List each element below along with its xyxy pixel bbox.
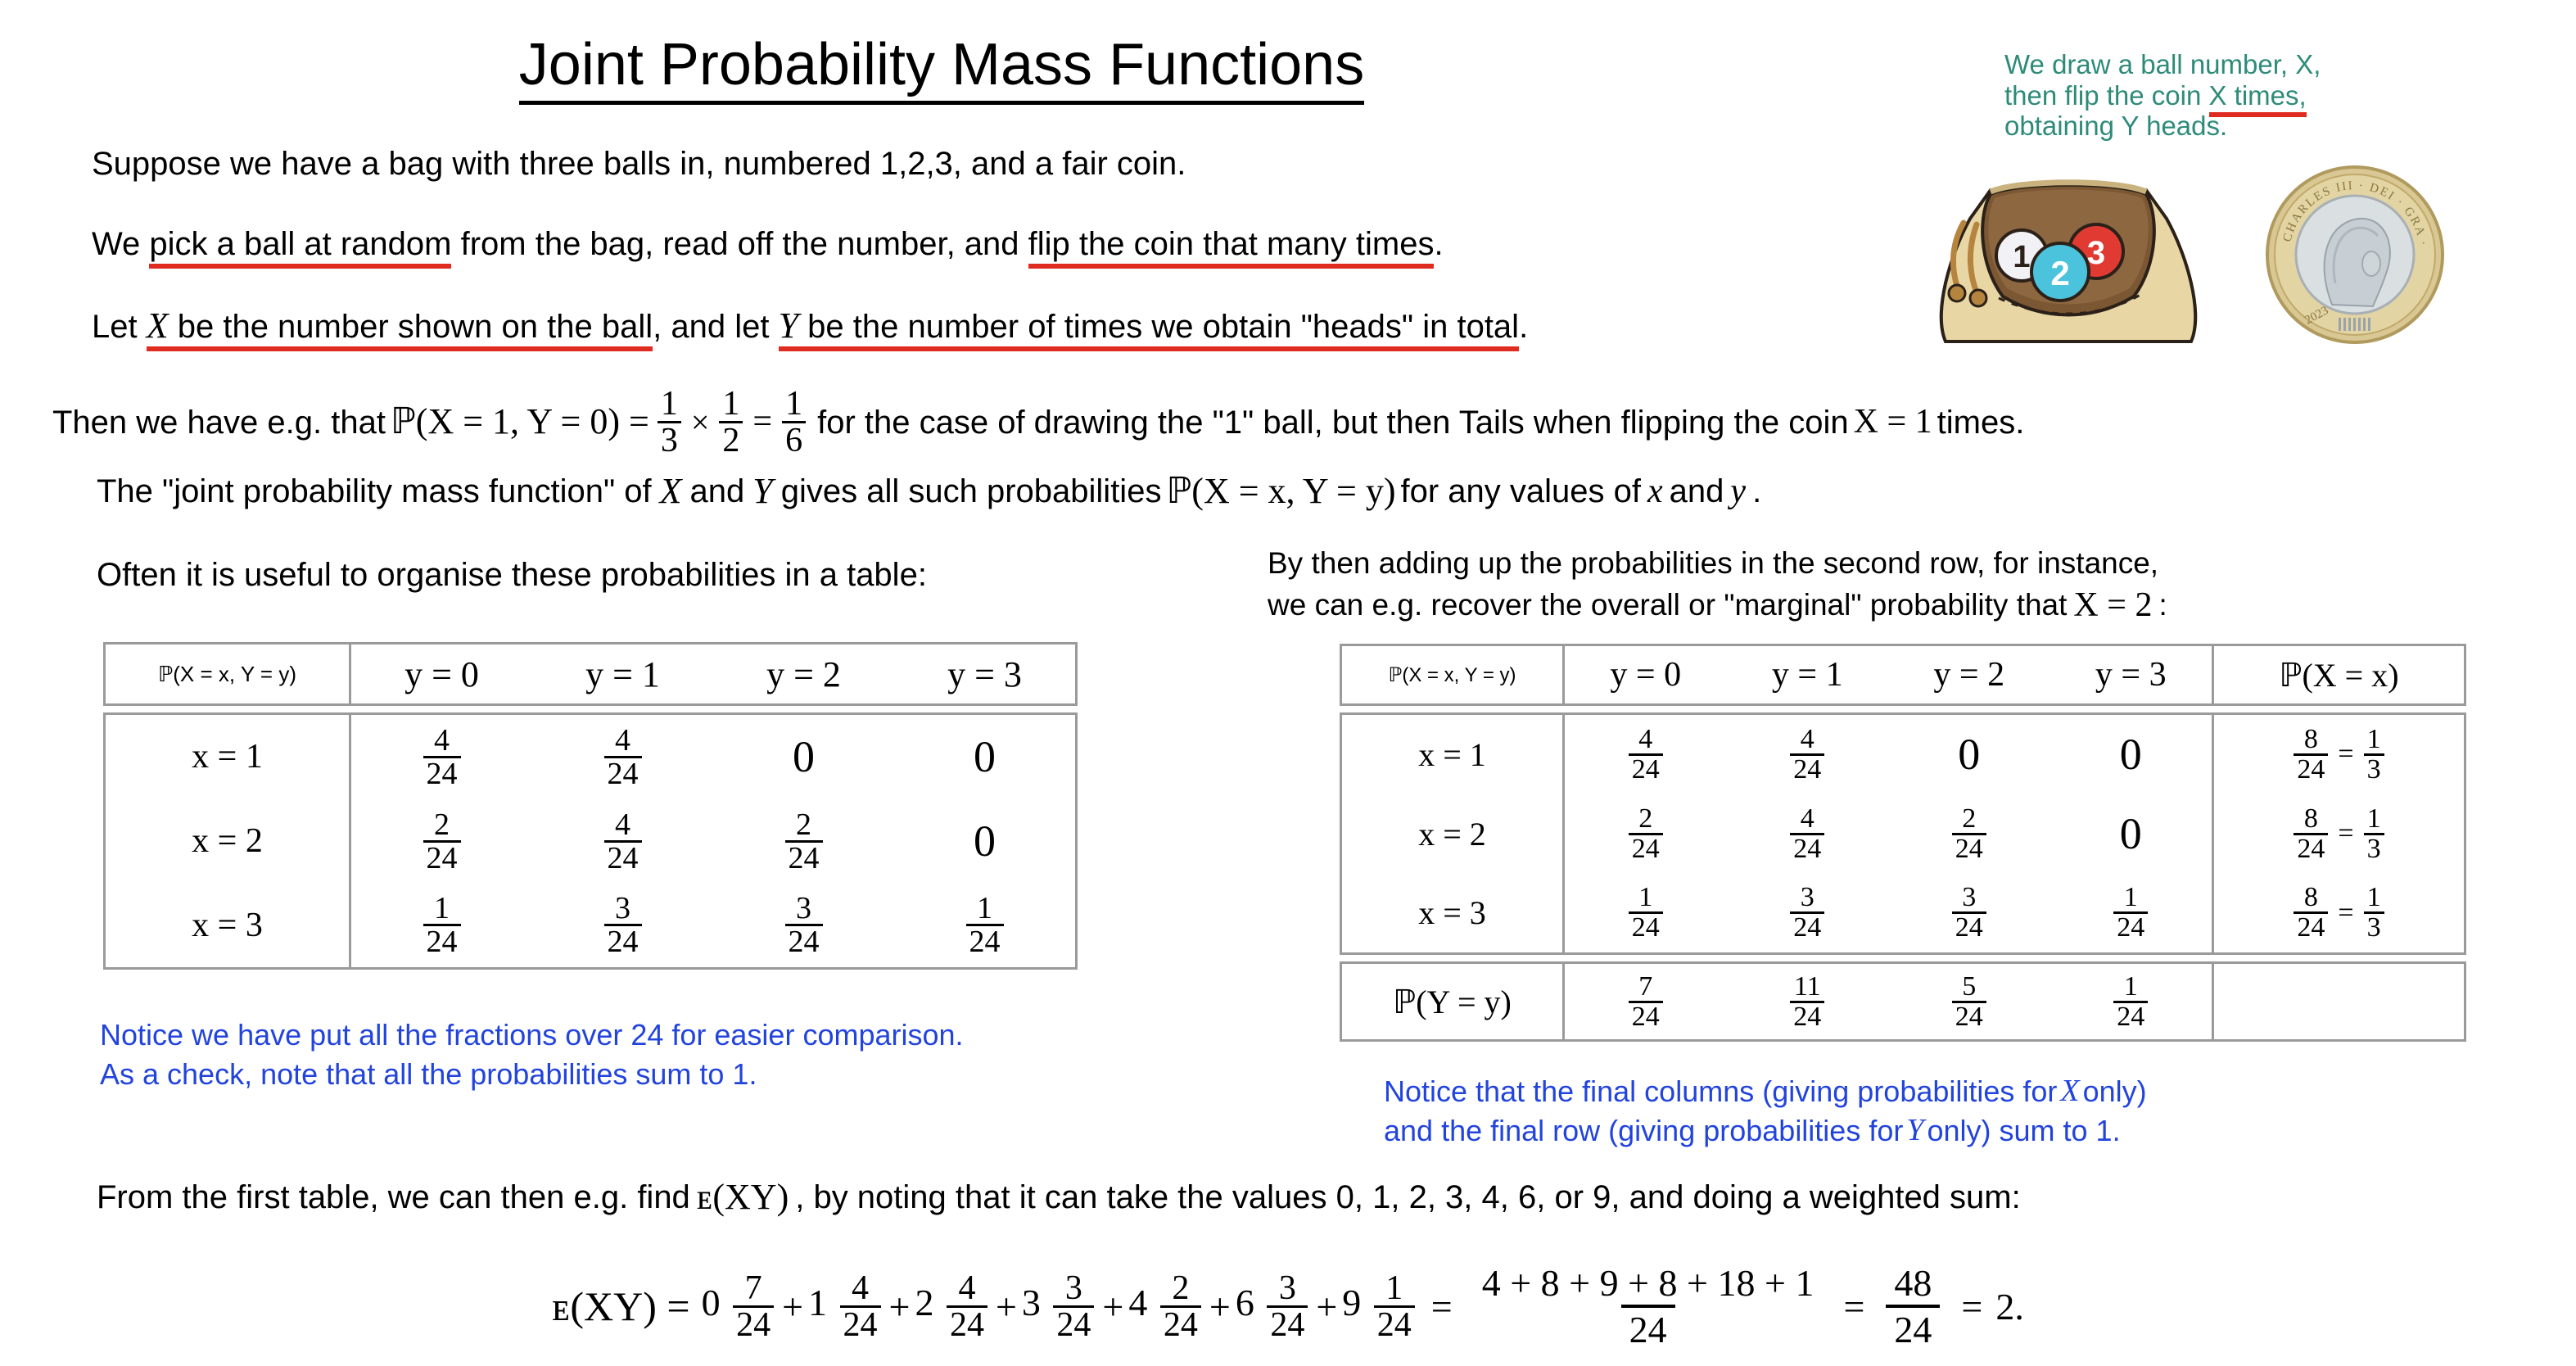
fraction-denominator: 24 — [1160, 1305, 1201, 1342]
plus-symbol: + — [1102, 1285, 1123, 1328]
marginal-x-value-x1: 824 = 13 — [2214, 715, 2464, 794]
row-header-x2: x = 2 — [106, 799, 349, 884]
fraction-numerator: 3 — [1276, 1271, 1299, 1305]
row-header-x2: x = 2 — [1342, 794, 1562, 874]
bottom-intro-b: , by noting that it can take the values … — [795, 1179, 2021, 1215]
table-body: x = 1 x = 2 x = 3 424 424 0 0 — [103, 712, 1078, 970]
equals-symbol: = — [2338, 898, 2353, 929]
fraction-numerator: 1 — [2364, 884, 2384, 911]
marginal-x-value-x2: 824 = 13 — [2214, 794, 2464, 874]
right-table-note-line-2: and the final row (giving probabilities … — [1384, 1114, 2121, 1148]
fraction-denominator: 3 — [2364, 911, 2384, 942]
row-header-x3: x = 3 — [106, 883, 349, 967]
term-0: 0 724 — [702, 1271, 778, 1342]
fraction-numerator: 7 — [1635, 973, 1656, 1001]
row-header-x1: x = 1 — [1342, 715, 1562, 794]
fraction-one-third: 1 3 — [658, 387, 681, 458]
fraction-numerator: 1 — [431, 893, 453, 924]
plus-symbol: + — [1316, 1285, 1337, 1328]
column-headers: y = 0 y = 1 y = 2 y = 3 — [351, 645, 1075, 703]
marginal-y-value-y1: 1124 — [1727, 973, 1889, 1031]
variable-x: X — [2060, 1074, 2079, 1109]
bag-of-balls-illustration: 1 3 2 — [1913, 157, 2224, 346]
marginal-y-row: ℙ(Y = y) 724 1124 524 124 — [1340, 961, 2466, 1042]
fraction-denominator: 24 — [2294, 911, 2328, 942]
fraction-numerator: 1 — [2364, 805, 2384, 833]
fraction-denominator: 3 — [2364, 753, 2384, 784]
equation-lhs: ᴇ(XY) = — [552, 1282, 689, 1330]
fraction-denominator: 24 — [604, 840, 642, 874]
fraction-numerator: 8 — [2301, 726, 2321, 753]
variable-y: Y — [752, 472, 772, 511]
body-line-5-a: The "joint probability mass function" of — [97, 473, 652, 509]
cell-x2-y2: 224 — [713, 809, 894, 874]
fraction-numerator: 3 — [612, 893, 634, 924]
fraction-denominator: 24 — [785, 924, 823, 957]
right-table-note-line-1: Notice that the final columns (giving pr… — [1384, 1074, 2147, 1109]
body-line-2-e: . — [1434, 226, 1443, 262]
fraction-denominator: 24 — [2294, 753, 2328, 784]
fraction-denominator: 24 — [947, 1305, 987, 1342]
fraction-denominator: 6 — [782, 421, 806, 458]
row-header-x1: x = 1 — [106, 715, 349, 799]
joint-prob-expression: ℙ(X = 1, Y = 0) = — [391, 402, 649, 441]
fraction-numerator: 1 — [2121, 973, 2141, 1001]
x-equals-two: X = 2 — [2073, 586, 2152, 624]
fraction-numerator: 4 — [848, 1271, 872, 1305]
fraction-denominator: 24 — [604, 756, 642, 789]
table-row: 124 324 324 124 — [351, 883, 1075, 967]
fraction-numerator: 2 — [431, 809, 453, 840]
total-fraction: 48 24 — [1886, 1261, 1940, 1351]
fraction-denominator: 24 — [1790, 911, 1824, 942]
fraction-denominator: 24 — [423, 840, 461, 874]
column-header-y1: y = 1 — [1727, 655, 1889, 694]
marginal-x-column: 824 = 13 824 = 13 824 = 13 — [2212, 715, 2464, 952]
body-line-2: We pick a ball at random from the bag, r… — [92, 226, 1444, 262]
cell-x3-y0: 124 — [1565, 884, 1727, 942]
fraction-numerator: 4 — [612, 725, 634, 756]
fraction-denominator: 24 — [840, 1305, 881, 1342]
fraction-denominator: 24 — [966, 924, 1004, 957]
joint-pmf-expression: ℙ(X = x, Y = y) — [1166, 472, 1395, 511]
body-line-2-c: from the bag, read off the number, and — [451, 226, 1028, 262]
bottom-intro-a: From the first table, we can then e.g. f… — [97, 1179, 690, 1215]
cell-x1-y3: 0 — [894, 731, 1075, 782]
svg-text:1: 1 — [2013, 240, 2030, 274]
cell-x1-y2: 0 — [1888, 729, 2050, 780]
fraction-denominator: 24 — [1790, 833, 1824, 863]
marginal-y-values: 724 1124 524 124 — [1565, 964, 2212, 1039]
table-corner-label: ℙ(X = x, Y = y) — [1342, 646, 1565, 703]
joint-pmf-table-left: ℙ(X = x, Y = y) y = 0 y = 1 y = 2 y = 3 … — [103, 642, 1078, 970]
term-5: 6 324 — [1236, 1271, 1312, 1342]
fraction-numerator: 3 — [1797, 884, 1818, 911]
fraction-numerator: 3 — [1062, 1271, 1086, 1305]
fraction-denominator: 3 — [2364, 833, 2384, 863]
fraction-numerator: 1 — [782, 387, 806, 421]
fraction-numerator: 4 — [431, 725, 453, 756]
times-symbol: × — [691, 405, 710, 441]
body-line-3-b: be the number shown on the ball — [169, 309, 653, 345]
sum-fraction: 4 + 8 + 9 + 8 + 18 + 1 24 — [1474, 1261, 1823, 1351]
cell-x1-y2: 0 — [713, 731, 894, 782]
equals-symbol-2: = — [1843, 1285, 1864, 1328]
fraction-numerator: 5 — [1959, 973, 1979, 1001]
term-4: 4 224 — [1128, 1271, 1204, 1342]
cell-value-zero: 0 — [974, 731, 996, 782]
fraction-numerator: 1 — [1635, 884, 1656, 911]
fraction-denominator: 24 — [2294, 833, 2328, 863]
left-table-note-line-1: Notice we have put all the fractions ove… — [100, 1019, 964, 1052]
variable-y: Y — [779, 305, 798, 346]
term-coefficient: 6 — [1236, 1282, 1254, 1323]
right-note-1c: only) — [2083, 1075, 2147, 1108]
fraction-denominator: 24 — [1053, 1305, 1094, 1342]
fraction-denominator: 24 — [423, 756, 461, 789]
fraction-one-half: 1 2 — [719, 387, 743, 458]
term-3: 3 324 — [1022, 1271, 1098, 1342]
body-line-5-c: gives all such probabilities — [781, 473, 1162, 509]
term-coefficient: 4 — [1128, 1282, 1147, 1323]
column-header-y1: y = 1 — [532, 654, 713, 695]
fraction-denominator: 24 — [1790, 1001, 1824, 1031]
fraction-denominator: 24 — [1629, 1001, 1663, 1031]
fraction-numerator: 11 — [1791, 973, 1824, 1001]
plus-symbol: + — [782, 1285, 803, 1328]
page-title-text: Joint Probability Mass Functions — [519, 32, 1364, 105]
fraction-denominator: 24 — [423, 924, 461, 957]
equals-symbol-3: = — [1961, 1285, 1982, 1328]
term-coefficient: 1 — [808, 1282, 827, 1323]
fraction-denominator: 24 — [1952, 911, 1986, 942]
fraction-denominator: 24 — [1629, 911, 1663, 942]
body-line-3-a: Let — [92, 309, 147, 345]
marginal-y-value-y3: 124 — [2050, 973, 2212, 1031]
body-line-4-a: Then we have e.g. that — [52, 405, 386, 441]
fraction-numerator: 2 — [1635, 805, 1656, 833]
plus-symbol: + — [1209, 1285, 1231, 1328]
variable-x: X — [660, 472, 682, 511]
cell-x1-y0: 424 — [351, 725, 532, 789]
fraction-denominator: 24 — [2113, 911, 2148, 942]
fraction-denominator: 24 — [1952, 1001, 1986, 1031]
term-coefficient: 0 — [702, 1282, 721, 1323]
table-cells: 424 424 0 0 224 424 224 0 124 324 324 12… — [1565, 715, 2212, 952]
body-line-2-highlight-2: flip the coin that many times — [1028, 226, 1435, 269]
cell-value-zero: 0 — [1958, 729, 1980, 780]
top-right-annotation: We draw a ball number, X, then flip the … — [2004, 49, 2576, 142]
cell-x3-y3: 124 — [894, 893, 1075, 957]
fraction-numerator: 4 — [1797, 805, 1818, 833]
bottom-intro-line: From the first table, we can then e.g. f… — [97, 1178, 2021, 1217]
fraction-denominator: 24 — [733, 1305, 774, 1342]
cell-x3-y1: 324 — [1727, 884, 1889, 942]
joint-pmf-table-right: ℙ(X = x, Y = y) y = 0 y = 1 y = 2 y = 3 … — [1340, 644, 2466, 1042]
fraction-numerator: 4 — [955, 1271, 978, 1305]
body-line-3-c: , and let — [653, 309, 778, 345]
fraction-one-sixth: 1 6 — [782, 387, 806, 458]
fraction-numerator: 3 — [793, 893, 815, 924]
marginal-y-value-y0: 724 — [1565, 973, 1727, 1031]
annotation-line-2: then flip the coin X times, — [2004, 80, 2576, 111]
left-table-note-line-2: As a check, note that all the probabilit… — [100, 1058, 757, 1091]
right-note-2c: only) sum to 1. — [1927, 1115, 2120, 1147]
fraction-numerator: 4 — [612, 809, 634, 840]
fraction-numerator: 2 — [793, 809, 815, 840]
fraction-denominator: 24 — [1952, 833, 1986, 863]
cell-x1-y1: 424 — [532, 725, 713, 789]
fraction-numerator: 2 — [1959, 805, 1979, 833]
variable-y: Y — [1906, 1114, 1923, 1148]
fraction-numerator: 1 — [1382, 1271, 1406, 1305]
column-header-y3: y = 3 — [894, 654, 1075, 695]
table-row: 424 424 0 0 — [1565, 715, 2212, 794]
plus-symbol: + — [889, 1285, 911, 1328]
table-row: 424 424 0 0 — [351, 715, 1075, 799]
cell-x1-y0: 424 — [1565, 726, 1727, 784]
table-header-row: ℙ(X = x, Y = y) y = 0 y = 1 y = 2 y = 3 … — [1340, 644, 2466, 706]
row-header-x3: x = 3 — [1342, 873, 1562, 952]
term-coefficient: 2 — [915, 1282, 933, 1323]
cell-x3-y1: 324 — [532, 893, 713, 957]
cell-value-zero: 0 — [2120, 808, 2142, 859]
fraction-numerator: 3 — [1959, 884, 1979, 911]
cell-x2-y3: 0 — [894, 816, 1075, 866]
term-coefficient: 3 — [1022, 1282, 1041, 1323]
fraction-denominator: 24 — [1629, 753, 1663, 784]
body-line-5-e: and — [1670, 473, 1724, 509]
fraction-numerator: 4 — [1635, 726, 1656, 753]
fraction-numerator: 1 — [2364, 726, 2384, 753]
fraction-denominator: 24 — [604, 924, 642, 957]
cell-value-zero: 0 — [974, 816, 996, 866]
cell-x2-y0: 224 — [351, 809, 532, 874]
body-line-1: Suppose we have a bag with three balls i… — [92, 146, 1186, 182]
cell-value-zero: 0 — [793, 731, 815, 782]
variable-x: X — [147, 305, 169, 346]
table-row: 124 324 324 124 — [1565, 873, 2212, 952]
fraction-numerator: 1 — [719, 387, 743, 421]
column-header-y2: y = 2 — [1888, 655, 2050, 694]
column-header-y0: y = 0 — [351, 654, 532, 695]
plus-symbol: + — [996, 1285, 1017, 1328]
variable-y-lower: y — [1730, 473, 1746, 510]
body-line-3-e: . — [1519, 309, 1528, 345]
term-1: 1 424 — [808, 1271, 884, 1342]
fraction-numerator: 4 — [1797, 726, 1818, 753]
fraction-denominator: 2 — [719, 421, 743, 458]
fraction-denominator: 24 — [1629, 833, 1663, 863]
fraction-numerator: 4 + 8 + 9 + 8 + 18 + 1 — [1474, 1261, 1823, 1305]
body-line-3: Let X be the number shown on the ball, a… — [92, 306, 1528, 346]
marginal-y-value-y2: 524 — [1888, 973, 2050, 1031]
column-header-y0: y = 0 — [1565, 655, 1727, 694]
fraction-denominator: 24 — [1374, 1305, 1415, 1342]
cell-x3-y2: 324 — [1888, 884, 2050, 942]
column-header-y2: y = 2 — [713, 654, 894, 695]
cell-x3-y3: 124 — [2050, 884, 2212, 942]
body-line-4-c: times. — [1937, 405, 2025, 441]
right-note-1a: Notice that the final columns (giving pr… — [1384, 1075, 2057, 1108]
body-line-4-b: for the case of drawing the "1" ball, bu… — [817, 405, 1849, 441]
fraction-numerator: 8 — [2301, 884, 2321, 911]
fraction-denominator: 24 — [1790, 753, 1824, 784]
fraction-denominator: 24 — [1886, 1305, 1940, 1351]
fraction-denominator: 3 — [658, 421, 681, 458]
marginal-x-value-x3: 824 = 13 — [2214, 873, 2464, 952]
body-line-3-d: be the number of times we obtain "heads"… — [798, 309, 1519, 345]
equation-result: 2. — [1995, 1285, 2024, 1328]
cell-x3-y0: 124 — [351, 893, 532, 957]
cell-x2-y2: 224 — [1888, 805, 2050, 863]
equals-symbol: = — [2338, 818, 2353, 849]
marginal-y-header-label: ℙ(Y = y) — [1393, 983, 1512, 1021]
svg-text:3: 3 — [2087, 235, 2105, 271]
equals-symbol: = — [752, 403, 772, 441]
fraction-numerator: 8 — [2301, 805, 2321, 833]
equals-symbol-1: = — [1431, 1285, 1453, 1328]
term-2: 2 424 — [915, 1271, 991, 1342]
row-headers: x = 1 x = 2 x = 3 — [106, 715, 351, 967]
fraction-denominator: 24 — [785, 840, 823, 874]
variable-x-lower: x — [1647, 473, 1663, 510]
cell-x2-y0: 224 — [1565, 805, 1727, 863]
cell-x2-y3: 0 — [2050, 808, 2212, 859]
marginal-x-header-label: ℙ(X = x) — [2279, 656, 2398, 694]
right-table-intro-2a: we can e.g. recover the overall or "marg… — [1268, 589, 2067, 622]
marginal-y-header: ℙ(Y = y) — [1342, 964, 1565, 1039]
column-header-y3: y = 3 — [2050, 655, 2212, 694]
marginal-corner-empty — [2212, 964, 2464, 1039]
fraction-numerator: 2 — [1168, 1271, 1192, 1305]
cell-value-zero: 0 — [2120, 729, 2142, 780]
row-headers: x = 1 x = 2 x = 3 — [1342, 715, 1565, 952]
right-note-2a: and the final row (giving probabilities … — [1384, 1115, 1903, 1147]
fraction-denominator: 24 — [1267, 1305, 1308, 1342]
page-title: Joint Probability Mass Functions — [0, 31, 1883, 98]
x-equals-one: X = 1 — [1854, 403, 1932, 441]
cell-x1-y3: 0 — [2050, 729, 2212, 780]
fraction-numerator: 7 — [742, 1271, 766, 1305]
fraction-numerator: 48 — [1886, 1261, 1940, 1305]
body-line-4: Then we have e.g. that ℙ(X = 1, Y = 0) =… — [52, 387, 2024, 458]
marginal-x-header: ℙ(X = x) — [2212, 646, 2464, 703]
right-table-intro-line-2: we can e.g. recover the overall or "marg… — [1268, 586, 2167, 624]
table-cells: 424 424 0 0 224 424 — [351, 715, 1075, 967]
body-line-5-b: and — [690, 473, 745, 509]
annotation-line-1: We draw a ball number, X, — [2004, 49, 2576, 80]
right-table-intro-2c: : — [2158, 589, 2167, 622]
final-equation: ᴇ(XY) = 0 724 + 1 424 + 2 424 + 3 324 + … — [0, 1261, 2576, 1351]
table-body: x = 1 x = 2 x = 3 424 424 0 0 224 424 22… — [1340, 712, 2466, 955]
fraction-denominator: 24 — [2113, 1001, 2148, 1031]
body-line-5-f: . — [1752, 473, 1761, 509]
fraction-numerator: 1 — [2121, 884, 2141, 911]
table-row: 224 424 224 0 — [1565, 794, 2212, 874]
fraction-numerator: 1 — [974, 893, 996, 924]
cell-x1-y1: 424 — [1727, 726, 1889, 784]
term-6: 9 124 — [1342, 1271, 1418, 1342]
table-row: 224 424 224 0 — [351, 799, 1075, 884]
cell-x2-y1: 424 — [1727, 805, 1889, 863]
left-table-intro: Often it is useful to organise these pro… — [97, 557, 927, 593]
column-headers: y = 0 y = 1 y = 2 y = 3 — [1565, 646, 2212, 703]
table-corner-label: ℙ(X = x, Y = y) — [106, 645, 351, 703]
term-coefficient: 9 — [1342, 1282, 1361, 1323]
annotation-line-2a: then flip the coin — [2004, 80, 2209, 111]
fraction-denominator: 24 — [1621, 1305, 1675, 1351]
body-line-2-highlight-1: pick a ball at random — [149, 226, 451, 269]
svg-text:2: 2 — [2050, 254, 2069, 292]
fraction-numerator: 1 — [658, 387, 681, 421]
expectation-xy: ᴇ(XY) — [697, 1178, 789, 1217]
body-line-2-a: We — [92, 226, 149, 262]
table-header-row: ℙ(X = x, Y = y) y = 0 y = 1 y = 2 y = 3 — [103, 642, 1078, 706]
right-table-intro-line-1: By then adding up the probabilities in t… — [1268, 547, 2158, 581]
body-line-5-d: for any values of — [1401, 473, 1642, 509]
equals-symbol: = — [2338, 739, 2353, 770]
cell-x2-y1: 424 — [532, 809, 713, 874]
one-pound-coin-illustration: CHARLES III · DEI · GRA · REX · F · D 20… — [2257, 161, 2453, 349]
body-line-5: The "joint probability mass function" of… — [97, 472, 1761, 511]
cell-x3-y2: 324 — [713, 893, 894, 957]
